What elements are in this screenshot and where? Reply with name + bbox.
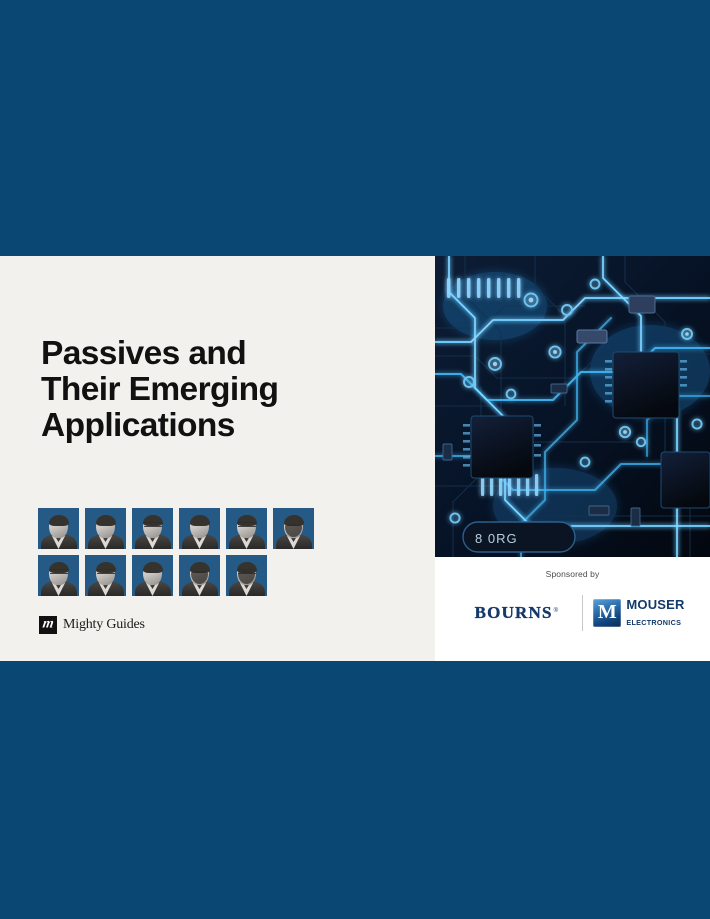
headshot-glasses-icon [238, 569, 256, 574]
contributor-headshot [38, 555, 79, 596]
sponsor-logo-row: BOURNS® MOUSER ELECTRONICS [435, 595, 710, 631]
contributor-headshot [226, 508, 267, 549]
headshot-glasses-icon [238, 522, 256, 527]
sponsor-block: Sponsored by BOURNS® MOUSER ELECTRONICS [435, 557, 710, 661]
sponsor-divider [582, 595, 583, 631]
contributor-headshot [132, 508, 173, 549]
contributor-headshot [179, 555, 220, 596]
publisher-logo: Mighty Guides [39, 616, 145, 634]
bourns-logo[interactable]: BOURNS® [460, 603, 572, 623]
headshot-hair [49, 515, 69, 526]
mouser-name: MOUSER [626, 597, 684, 612]
headshot-glasses-icon [144, 522, 162, 527]
contributor-headshot [132, 555, 173, 596]
mouser-subtitle: ELECTRONICS [626, 618, 681, 627]
contributor-headshot-grid [38, 508, 328, 596]
sponsored-by-label: Sponsored by [435, 557, 710, 579]
page-title: Passives and Their Emerging Applications [41, 336, 371, 444]
contributor-headshot [85, 555, 126, 596]
headshot-hair [96, 515, 116, 526]
contributor-headshot [85, 508, 126, 549]
circuit-board-image: 8 0RG [435, 256, 710, 557]
contributor-headshot [179, 508, 220, 549]
chip-marking-label: 8 0RG [475, 531, 518, 546]
mouser-mark-icon [593, 599, 621, 627]
cover-right-panel: 8 0RG Sponsored by BOURNS® MOUSER ELECTR… [435, 256, 710, 661]
headshot-glasses-icon [97, 569, 115, 574]
cover-left-panel: Passives and Their Emerging Applications… [0, 256, 435, 661]
contributor-headshot [38, 508, 79, 549]
contributor-headshot [226, 555, 267, 596]
mighty-guides-mark-icon [39, 616, 57, 634]
headshot-hair [190, 515, 210, 526]
bourns-wordmark: BOURNS [475, 603, 553, 622]
contributor-headshot [273, 508, 314, 549]
ebook-cover-card: Passives and Their Emerging Applications… [0, 256, 710, 661]
publisher-name: Mighty Guides [63, 617, 145, 633]
mouser-logo[interactable]: MOUSER ELECTRONICS [593, 597, 684, 630]
headshot-glasses-icon [50, 569, 68, 574]
registered-trademark-icon: ® [554, 608, 558, 614]
headshot-hair [143, 562, 163, 573]
mouser-wordmark: MOUSER ELECTRONICS [626, 597, 684, 630]
